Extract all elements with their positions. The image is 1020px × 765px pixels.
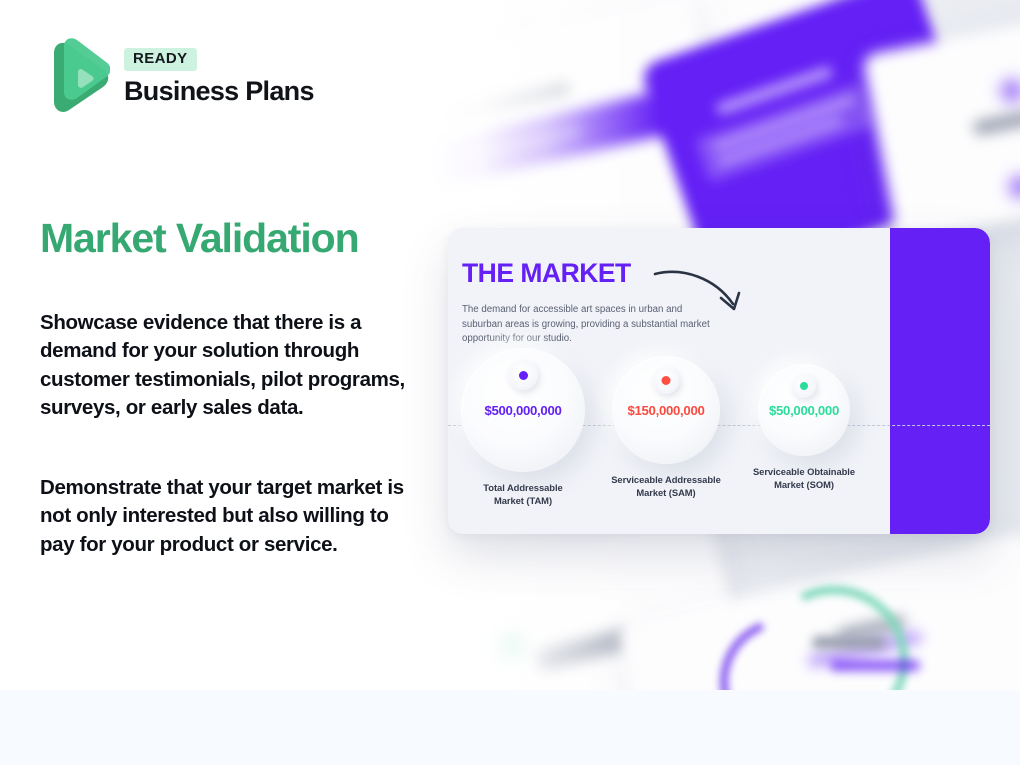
market-value-tam: $500,000,000 [484, 403, 561, 418]
background-bar-accent [830, 660, 920, 671]
market-value-som: $50,000,000 [769, 403, 839, 418]
market-item-tam[interactable]: $500,000,000 Total Addressable Market (T… [448, 348, 598, 508]
market-label-tam: Total Addressable Market (TAM) [483, 481, 562, 508]
market-label-sam: Serviceable Addressable Market (SAM) [611, 473, 721, 500]
bubble-som: $50,000,000 [758, 364, 850, 456]
slide-preview-canvas: READY Business Plans Market Validation S… [0, 0, 1020, 765]
ready-badge: READY [124, 48, 197, 71]
market-pip-icon-tam [508, 360, 538, 390]
market-label-som: Serviceable Obtainable Market (SOM) [753, 465, 855, 492]
market-value-sam: $150,000,000 [627, 403, 704, 418]
background-bar-grey [812, 636, 886, 649]
brand-logo-text: READY Business Plans [124, 48, 314, 106]
play-triangle-logo-icon [40, 38, 110, 116]
card-title: THE MARKET [462, 258, 631, 289]
market-slide-card[interactable]: THE MARKET The demand for accessible art… [448, 228, 990, 534]
curved-arrow-icon [653, 268, 749, 327]
bottom-strip [0, 690, 1020, 765]
left-content-column: READY Business Plans Market Validation S… [0, 0, 432, 690]
bubble-tam: $500,000,000 [461, 348, 585, 472]
market-pip-icon-som [792, 374, 816, 398]
market-item-som[interactable]: $50,000,000 Serviceable Obtainable Marke… [729, 348, 879, 492]
market-item-sam[interactable]: $150,000,000 Serviceable Addressable Mar… [591, 348, 741, 500]
card-purple-accent-panel [890, 228, 990, 534]
brand-logo: READY Business Plans [40, 38, 314, 116]
market-pip-icon-sam [653, 367, 680, 394]
page-title: Market Validation [40, 216, 359, 261]
brand-name: Business Plans [124, 76, 314, 106]
market-bubble-chart: $500,000,000 Total Addressable Market (T… [448, 348, 890, 534]
body-paragraph-1: Showcase evidence that there is a demand… [40, 309, 415, 423]
body-paragraph-2: Demonstrate that your target market is n… [40, 474, 415, 559]
bubble-sam: $150,000,000 [612, 356, 720, 464]
